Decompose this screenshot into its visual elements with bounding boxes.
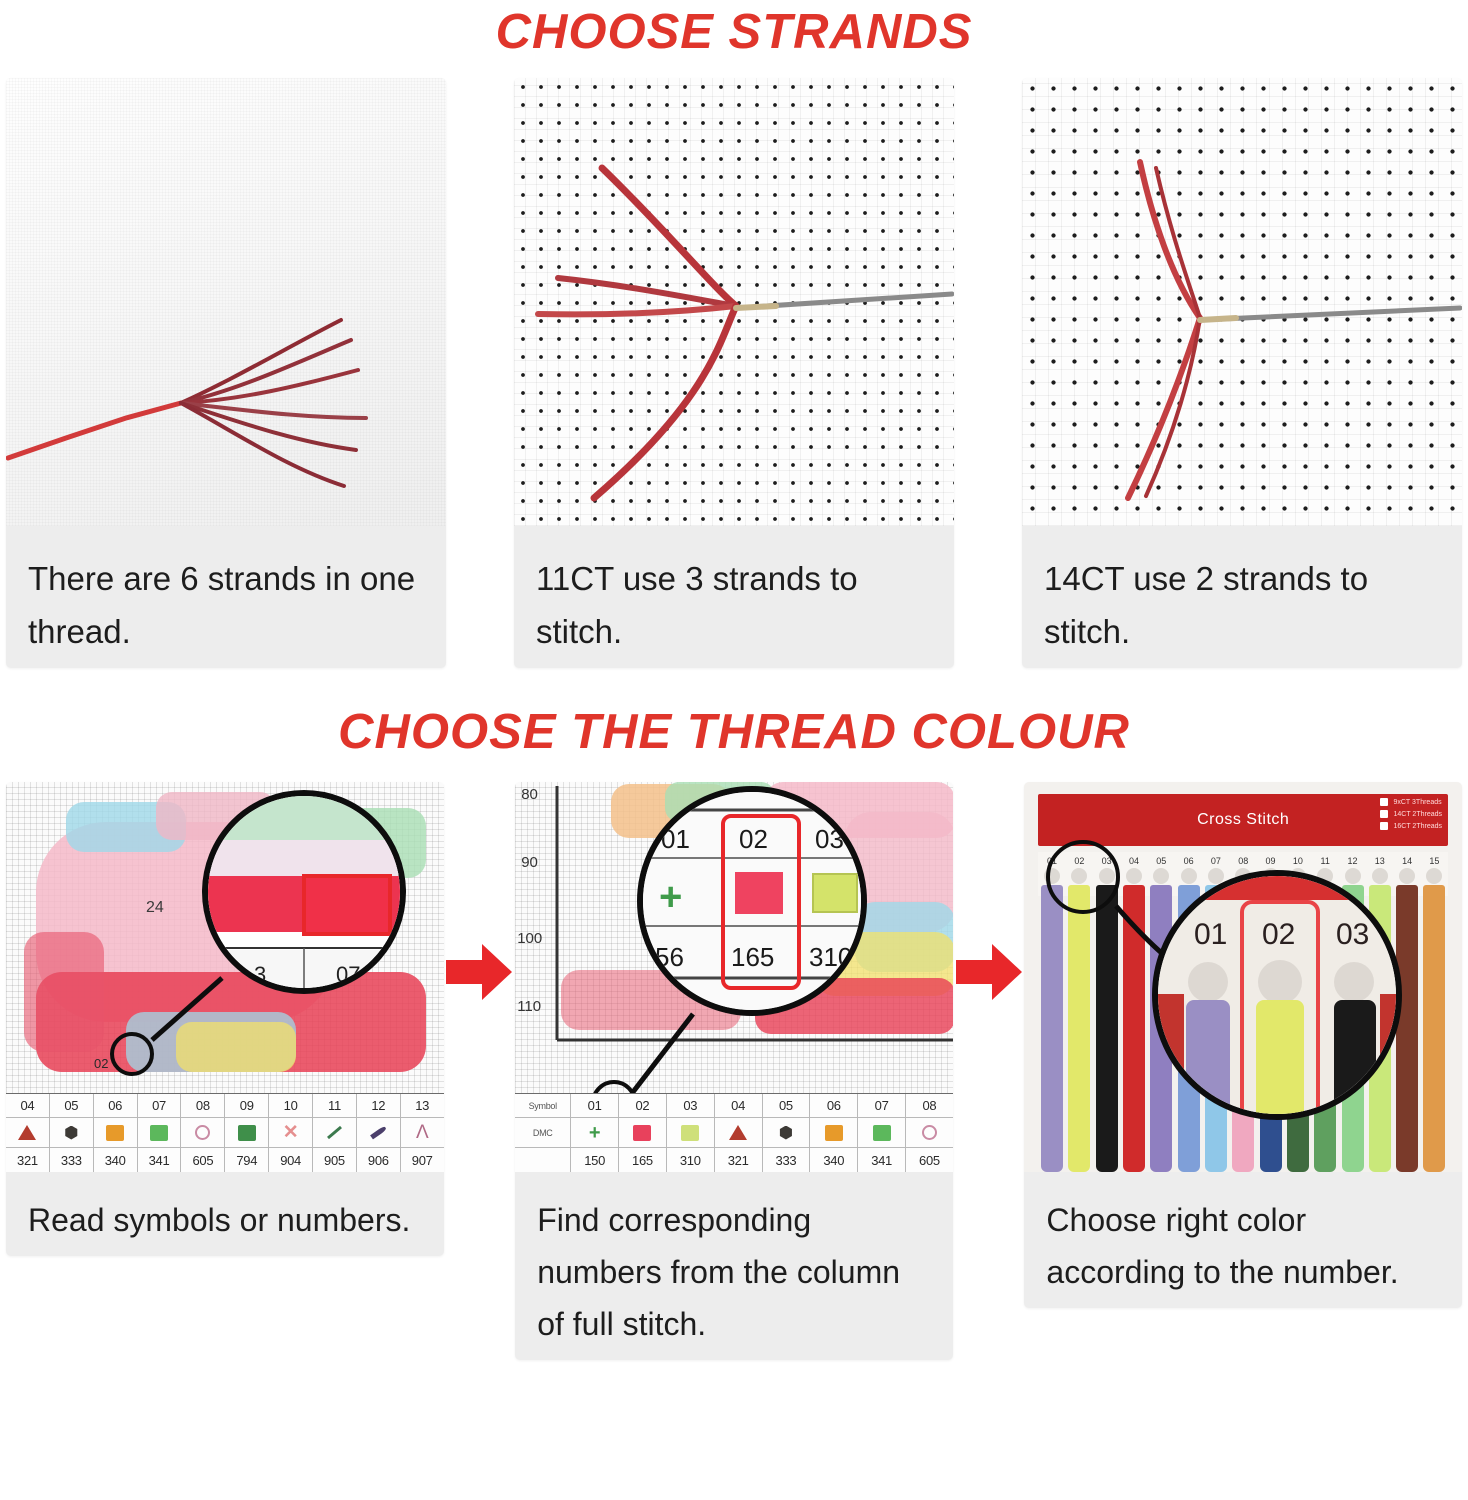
- legend-dmc: 310: [667, 1148, 715, 1172]
- legend-number-row: 150 165 310 321 333 340 341 605: [515, 1148, 953, 1172]
- legend-dmc: 907: [401, 1148, 444, 1172]
- legend-col: 02: [619, 1094, 667, 1118]
- caption-six-strands: There are 6 strands in one thread.: [6, 526, 446, 668]
- legend-header-row: Symbol 01 02 03 04 05 06 07 08: [515, 1094, 953, 1118]
- photo-chart-legend: 80 90 100 110: [515, 782, 953, 1172]
- legend-col: 04: [6, 1094, 50, 1118]
- legend-col: 08: [906, 1094, 953, 1118]
- symbol-slash-icon: [313, 1118, 357, 1148]
- photo-thread-card: Cross Stitch 9xCT 3Threads 14CT 2Threads…: [1024, 782, 1462, 1172]
- caption-find-numbers: Find corresponding numbers from the colu…: [515, 1172, 953, 1360]
- card-14ct: 14CT use 2 strands to stitch.: [1022, 78, 1462, 668]
- legend-col: 07: [138, 1094, 182, 1118]
- legend-dmc: 165: [619, 1148, 667, 1172]
- right-arrow-icon: [446, 942, 512, 1002]
- legend-dmc: 905: [313, 1148, 357, 1172]
- legend-col: 04: [715, 1094, 763, 1118]
- legend-col: 09: [225, 1094, 269, 1118]
- legend-dmc: 333: [50, 1148, 94, 1172]
- chart-legend-table-middle: Symbol 01 02 03 04 05 06 07 08 DMC +: [515, 1093, 953, 1172]
- legend-dmc: 794: [225, 1148, 269, 1172]
- section-heading-choose-strands: CHOOSE STRANDS: [0, 0, 1468, 60]
- symbol-square-dark-green-icon: [225, 1118, 269, 1148]
- chart-legend-table-left: 04 05 06 07 08 09 10 11 12 13: [6, 1093, 444, 1172]
- legend-col: 07: [858, 1094, 906, 1118]
- six-strands-illustration: [6, 78, 446, 526]
- legend-col: 01: [571, 1094, 619, 1118]
- symbol-yellowgreen-square-icon: [667, 1118, 715, 1148]
- symbol-square-green-icon: [858, 1118, 906, 1148]
- symbol-hexagon-icon: [763, 1118, 811, 1148]
- card-find-numbers: 80 90 100 110: [515, 782, 953, 1360]
- thread-colour-card-row: 24 02: [0, 782, 1468, 1360]
- photo-loose-strands: [6, 78, 446, 526]
- photo-14ct-aida: [1022, 78, 1462, 526]
- legend-col: 12: [357, 1094, 401, 1118]
- magnified-thread-col-02: 02: [1262, 918, 1295, 951]
- legend-dmc: 340: [94, 1148, 138, 1172]
- caption-read-symbols: Read symbols or numbers.: [6, 1172, 444, 1256]
- legend-col: 13: [401, 1094, 444, 1118]
- symbol-triangle-icon: [6, 1118, 50, 1148]
- strands-card-row: There are 6 strands in one thread. 11CT …: [0, 78, 1468, 668]
- arrow-slot-1: [444, 782, 516, 1002]
- legend-row-label-spacer: [515, 1148, 571, 1172]
- symbol-cross-x-icon: ✕: [269, 1118, 313, 1148]
- legend-symbol-row: ✕ Λ: [6, 1118, 444, 1148]
- legend-col: 05: [763, 1094, 811, 1118]
- symbol-lambda-icon: Λ: [401, 1118, 444, 1148]
- legend-row-label: DMC: [515, 1118, 571, 1148]
- needle-and-2-strands-illustration: [1022, 78, 1462, 526]
- section-heading-choose-thread-colour: CHOOSE THE THREAD COLOUR: [0, 704, 1468, 760]
- magnifier-loupe-right: 01 02 03: [1152, 870, 1402, 1120]
- symbol-red-square-icon: [619, 1118, 667, 1148]
- legend-header-row: 04 05 06 07 08 09 10 11 12 13: [6, 1094, 444, 1118]
- legend-dmc: 605: [906, 1148, 953, 1172]
- legend-dmc: 904: [269, 1148, 313, 1172]
- infographic-page: CHOOSE STRANDS There are: [0, 0, 1468, 1500]
- legend-col: 10: [269, 1094, 313, 1118]
- arrow-slot-2: [953, 782, 1025, 1002]
- magnified-thread-col-03: 03: [1336, 918, 1369, 951]
- magnified-floss-02: [1256, 1000, 1304, 1120]
- legend-dmc: 906: [357, 1148, 401, 1172]
- right-arrow-icon: [956, 942, 1022, 1002]
- legend-dmc: 321: [6, 1148, 50, 1172]
- legend-col: 06: [810, 1094, 858, 1118]
- legend-dmc: 341: [138, 1148, 182, 1172]
- legend-dmc: 341: [858, 1148, 906, 1172]
- symbol-quill-icon: [357, 1118, 401, 1148]
- legend-col: 05: [50, 1094, 94, 1118]
- caption-choose-colour: Choose right color according to the numb…: [1024, 1172, 1462, 1308]
- legend-row-label: Symbol: [515, 1094, 571, 1118]
- symbol-square-green-icon: [138, 1118, 182, 1148]
- card-six-strands: There are 6 strands in one thread.: [6, 78, 446, 668]
- card-11ct: 11CT use 3 strands to stitch.: [514, 78, 954, 668]
- legend-dmc: 333: [763, 1148, 811, 1172]
- needle-and-3-strands-illustration: [514, 78, 954, 526]
- caption-14ct: 14CT use 2 strands to stitch.: [1022, 526, 1462, 668]
- symbol-square-orange-icon: [94, 1118, 138, 1148]
- legend-col: 08: [181, 1094, 225, 1118]
- magnified-thread-col-01: 01: [1194, 918, 1227, 951]
- legend-symbol-row: DMC +: [515, 1118, 953, 1148]
- card-read-symbols: 24 02: [6, 782, 444, 1256]
- legend-col: 06: [94, 1094, 138, 1118]
- legend-dmc: 605: [181, 1148, 225, 1172]
- legend-col: 11: [313, 1094, 357, 1118]
- legend-dmc: 340: [810, 1148, 858, 1172]
- symbol-square-orange-icon: [810, 1118, 858, 1148]
- symbol-circle-outline-icon: [906, 1118, 953, 1148]
- symbol-hexagon-icon: [50, 1118, 94, 1148]
- caption-11ct: 11CT use 3 strands to stitch.: [514, 526, 954, 668]
- symbol-green-cross-icon: +: [571, 1118, 619, 1148]
- photo-pattern-chart: 24 02: [6, 782, 444, 1172]
- legend-col: 03: [667, 1094, 715, 1118]
- photo-11ct-aida: [514, 78, 954, 526]
- symbol-circle-outline-icon: [181, 1118, 225, 1148]
- legend-number-row: 321 333 340 341 605 794 904 905 906 907: [6, 1148, 444, 1172]
- legend-dmc: 321: [715, 1148, 763, 1172]
- card-choose-colour: Cross Stitch 9xCT 3Threads 14CT 2Threads…: [1024, 782, 1462, 1308]
- symbol-triangle-icon: [715, 1118, 763, 1148]
- legend-dmc: 150: [571, 1148, 619, 1172]
